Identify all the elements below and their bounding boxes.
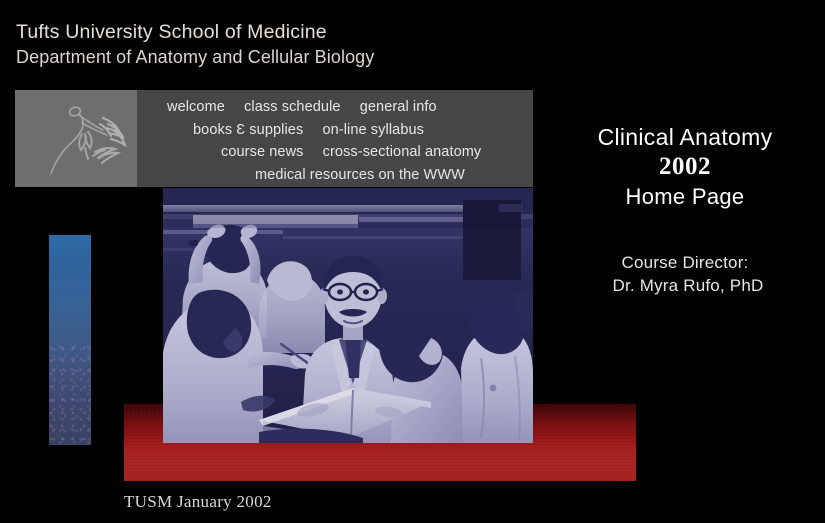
nav-link-medical-resources-www[interactable]: medical resources on the WWW	[255, 164, 465, 187]
nav-row-2: books Ɛ supplies on-line syllabus	[137, 119, 533, 142]
nav-link-general-info[interactable]: general info	[360, 96, 437, 119]
course-director-name: Dr. Myra Rufo, PhD	[560, 274, 810, 297]
nav-link-online-syllabus[interactable]: on-line syllabus	[322, 119, 424, 142]
nav-row-1: welcome class schedule general info	[137, 96, 533, 119]
blue-accent-strip	[49, 235, 91, 445]
title-course: Clinical Anatomy	[560, 122, 810, 152]
nav-row-3: course news cross-sectional anatomy	[137, 141, 533, 164]
course-director-label: Course Director:	[560, 251, 810, 274]
nav-link-course-news[interactable]: course news	[221, 141, 304, 164]
page-title: Clinical Anatomy 2002 Home Page	[560, 122, 810, 212]
anatomical-sketch-icon	[15, 90, 137, 187]
university-name: Tufts University School of Medicine	[16, 20, 576, 45]
logo-panel	[15, 90, 137, 187]
nav-link-welcome[interactable]: welcome	[167, 96, 225, 119]
nav-link-class-schedule[interactable]: class schedule	[244, 96, 341, 119]
course-director-block: Course Director: Dr. Myra Rufo, PhD	[560, 251, 810, 297]
homepage-root: Tufts University School of Medicine Depa…	[0, 0, 825, 523]
nav-links: welcome class schedule general info book…	[137, 90, 533, 187]
title-home-page: Home Page	[560, 182, 810, 212]
navigation-band: welcome class schedule general info book…	[15, 90, 533, 187]
nav-row-4: medical resources on the WWW	[137, 164, 533, 187]
department-name: Department of Anatomy and Cellular Biolo…	[16, 45, 576, 69]
title-year: 2002	[560, 152, 810, 182]
nav-link-cross-sectional-anatomy[interactable]: cross-sectional anatomy	[323, 141, 482, 164]
anatomy-lab-photo	[163, 188, 533, 443]
masthead: Tufts University School of Medicine Depa…	[16, 20, 576, 69]
nav-link-books-supplies[interactable]: books Ɛ supplies	[193, 119, 303, 142]
footer-text: TUSM January 2002	[124, 492, 272, 512]
